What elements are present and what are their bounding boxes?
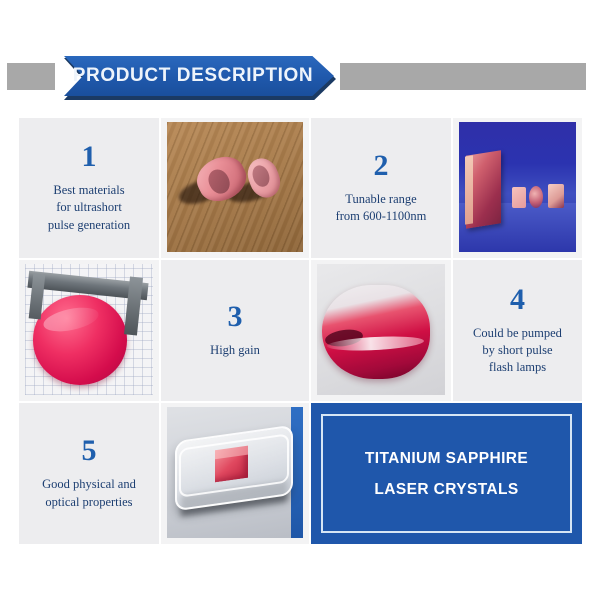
feature-cell-5: 5 Good physical and optical properties — [18, 402, 160, 545]
crystal-chip-3 — [548, 184, 564, 207]
feature-text-4: Could be pumped by short pulse flash lam… — [473, 325, 562, 377]
photo-crimson-disc-with-caliper — [18, 259, 160, 402]
feature-number-4: 4 — [510, 285, 525, 315]
feature-number-3: 3 — [228, 302, 243, 332]
photo-frame — [25, 264, 153, 395]
header-bar-left — [7, 63, 55, 90]
header-banner: PRODUCT DESCRIPTION — [0, 56, 600, 100]
feature-text-5: Good physical and optical properties — [42, 476, 136, 511]
crystal-chip-1 — [512, 187, 526, 208]
photo-crystal-slabs-blue-light — [452, 117, 583, 259]
photo-polished-red-crystal — [310, 259, 452, 402]
feature-cell-2: 2 Tunable range from 600-1100nm — [310, 117, 452, 259]
feature-cell-1: 1 Best materials for ultrashort pulse ge… — [18, 117, 160, 259]
photo-crystal-cube-in-clear-box — [160, 402, 310, 545]
photo-frame — [167, 122, 303, 252]
banner-title: PRODUCT DESCRIPTION — [64, 56, 322, 96]
crystal-chip-2 — [529, 186, 543, 208]
feature-text-1: Best materials for ultrashort pulse gene… — [48, 182, 130, 234]
product-title-inner-border: TITANIUM SAPPHIRE LASER CRYSTALS — [321, 414, 572, 533]
feature-grid: 1 Best materials for ultrashort pulse ge… — [18, 117, 583, 545]
feature-number-2: 2 — [374, 151, 389, 181]
feature-text-3: High gain — [210, 342, 260, 359]
feature-cell-4: 4 Could be pumped by short pulse flash l… — [452, 259, 583, 402]
feature-cell-3: 3 High gain — [160, 259, 310, 402]
feature-number-1: 1 — [82, 142, 97, 172]
feature-number-5: 5 — [82, 436, 97, 466]
photo-pink-crystal-rods-on-wood — [160, 117, 310, 259]
photo-frame — [167, 407, 303, 538]
crystal-slab-edge — [465, 155, 473, 224]
photo-frame — [459, 122, 576, 252]
product-title-line-1: TITANIUM SAPPHIRE — [365, 443, 528, 474]
product-title-block: TITANIUM SAPPHIRE LASER CRYSTALS — [310, 402, 583, 545]
header-bar-right — [340, 63, 586, 90]
photo-frame — [317, 264, 445, 395]
product-description-page: PRODUCT DESCRIPTION 1 Best materials for… — [0, 0, 600, 600]
feature-text-2: Tunable range from 600-1100nm — [336, 191, 427, 226]
ribbon: PRODUCT DESCRIPTION — [64, 56, 336, 100]
product-title-line-2: LASER CRYSTALS — [374, 474, 518, 505]
